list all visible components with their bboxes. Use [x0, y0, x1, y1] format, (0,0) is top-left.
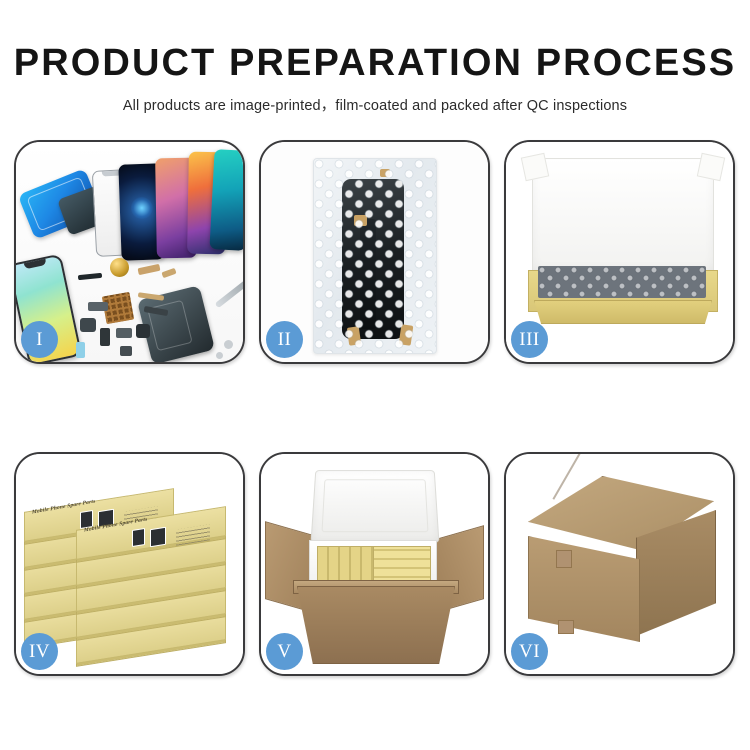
product-preparation-infographic: PRODUCT PREPARATION PROCESS All products… [0, 0, 750, 750]
page-title: PRODUCT PREPARATION PROCESS [0, 44, 750, 82]
carton-tape-icon [556, 550, 572, 568]
bubble-bag [313, 158, 437, 354]
process-step-card-6[interactable]: VI [504, 452, 735, 676]
process-step-grid: I II [14, 140, 736, 676]
phone-display-d-icon [209, 149, 243, 251]
spare-part-icon [100, 328, 110, 346]
box-stack: Mobile Phone Spare Parts [24, 472, 236, 662]
step-badge-5: V [266, 633, 303, 670]
spare-part-icon [120, 346, 132, 356]
box-art-swatch [132, 528, 145, 547]
spare-part-icon [136, 324, 150, 338]
process-step-card-3[interactable]: III [504, 140, 735, 364]
spare-part-icon [161, 268, 176, 278]
carton-tape-icon [558, 620, 574, 634]
yellow-box-front [534, 300, 712, 324]
spare-part-icon [224, 340, 233, 349]
process-step-card-2[interactable]: II [259, 140, 490, 364]
spare-part-icon [80, 318, 96, 332]
step-badge-6: VI [511, 633, 548, 670]
process-step-card-1[interactable]: I [14, 140, 245, 364]
page-subtitle: All products are image-printed，film-coat… [0, 99, 750, 114]
spare-part-icon [138, 264, 161, 275]
header: PRODUCT PREPARATION PROCESS All products… [0, 0, 750, 114]
step-badge-4: IV [21, 633, 58, 670]
spare-part-icon [116, 328, 132, 338]
process-step-card-4[interactable]: Mobile Phone Spare Parts [14, 452, 245, 676]
gold-component-icon [110, 258, 129, 277]
spare-part-icon [78, 273, 102, 280]
foam-case-lid [311, 470, 440, 542]
screwdriver-icon [215, 278, 243, 309]
process-step-card-5[interactable]: V [259, 452, 490, 676]
step-badge-3: III [511, 321, 548, 358]
carton-body [297, 586, 455, 664]
gray-bubble-wrapped-items [538, 266, 706, 298]
stacked-box-top-right: Mobile Phone Spare Parts [76, 518, 226, 548]
spare-part-icon [76, 342, 85, 358]
spare-part-icon [88, 302, 108, 311]
carton-front-face [528, 536, 640, 642]
step-badge-1: I [21, 321, 58, 358]
spare-part-icon [216, 352, 223, 359]
step-badge-2: II [266, 321, 303, 358]
box-art-swatch [150, 527, 166, 548]
foam-lid [532, 158, 714, 276]
bubble-wrap-texture [314, 159, 436, 353]
